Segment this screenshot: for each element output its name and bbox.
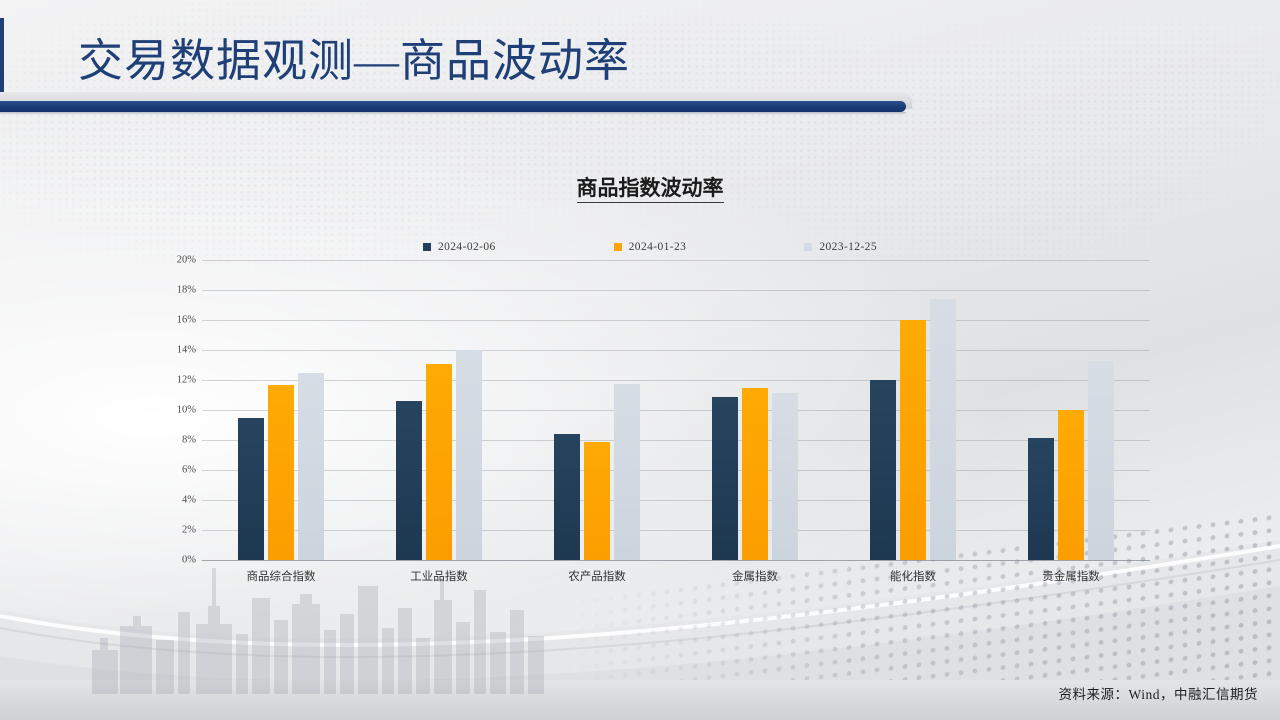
bar[interactable] [870, 380, 896, 560]
chart-title-text: 商品指数波动率 [577, 176, 724, 203]
source-note: 资料来源：Wind，中融汇信期货 [1059, 683, 1258, 703]
bar[interactable] [426, 364, 452, 561]
page-title: 交易数据观测—商品波动率 [78, 34, 630, 88]
legend-swatch-icon [804, 243, 812, 251]
y-axis-tick-label: 14% [150, 345, 196, 356]
x-axis-category-label: 金属指数 [676, 568, 834, 584]
bar[interactable] [614, 384, 640, 560]
y-axis-tick-label: 4% [150, 495, 196, 506]
bar[interactable] [772, 393, 798, 560]
bar[interactable] [1058, 410, 1084, 560]
legend-item[interactable]: 2023-12-25 [804, 241, 877, 253]
header-band-shadow [0, 112, 906, 115]
y-axis-labels: 0%2%4%6%8%10%12%14%16%18%20% [150, 260, 196, 560]
bar-group: 农产品指数 [518, 260, 676, 560]
y-axis-tick-label: 10% [150, 405, 196, 416]
legend-item[interactable]: 2024-01-23 [614, 241, 687, 253]
x-axis-category-label: 农产品指数 [518, 568, 676, 584]
bar[interactable] [1088, 361, 1114, 561]
header-accent-band [0, 92, 960, 118]
chart-bars: 商品综合指数工业品指数农产品指数金属指数能化指数贵金属指数 [202, 260, 1150, 560]
x-axis-category-label: 贵金属指数 [992, 568, 1150, 584]
y-axis-tick-label: 0% [150, 555, 196, 566]
chart-legend: 2024-02-062024-01-232023-12-25 [150, 238, 1150, 256]
bar[interactable] [584, 442, 610, 560]
y-axis-tick-label: 18% [150, 285, 196, 296]
legend-swatch-icon [423, 243, 431, 251]
legend-label: 2024-02-06 [438, 241, 496, 253]
legend-label: 2024-01-23 [629, 241, 687, 253]
x-axis-category-label: 商品综合指数 [202, 568, 360, 584]
bar[interactable] [268, 385, 294, 561]
bar-group: 工业品指数 [360, 260, 518, 560]
bar-group: 能化指数 [834, 260, 992, 560]
bar-group: 商品综合指数 [202, 260, 360, 560]
bar-group: 贵金属指数 [992, 260, 1150, 560]
y-axis-tick-label: 12% [150, 375, 196, 386]
header-band-blue [0, 101, 906, 112]
chart-title: 商品指数波动率 [150, 172, 1150, 202]
x-axis-category-label: 能化指数 [834, 568, 992, 584]
x-axis-category-label: 工业品指数 [360, 568, 518, 584]
bar[interactable] [298, 373, 324, 561]
bar[interactable] [712, 397, 738, 561]
slide-header: 交易数据观测—商品波动率 [0, 0, 1280, 118]
y-axis-tick-label: 2% [150, 525, 196, 536]
y-axis-tick-label: 16% [150, 315, 196, 326]
y-axis-tick-label: 8% [150, 435, 196, 446]
bar[interactable] [1028, 438, 1054, 560]
chart-plot-area: 0%2%4%6%8%10%12%14%16%18%20% 商品综合指数工业品指数… [202, 260, 1150, 560]
bar[interactable] [456, 350, 482, 560]
bar[interactable] [396, 401, 422, 560]
legend-item[interactable]: 2024-02-06 [423, 241, 496, 253]
y-axis-tick-label: 6% [150, 465, 196, 476]
legend-swatch-icon [614, 243, 622, 251]
bar[interactable] [554, 434, 580, 560]
y-axis-tick-label: 20% [150, 255, 196, 266]
legend-label: 2023-12-25 [819, 241, 877, 253]
bar[interactable] [742, 388, 768, 560]
bar-chart: 商品指数波动率 2024-02-062024-01-232023-12-25 0… [150, 160, 1150, 580]
bar[interactable] [930, 299, 956, 560]
bar-group: 金属指数 [676, 260, 834, 560]
gridline [202, 560, 1150, 561]
bar[interactable] [900, 320, 926, 560]
slide-canvas: 交易数据观测—商品波动率 商品指数波动率 2024-02-062024-01-2… [0, 0, 1280, 720]
bar[interactable] [238, 418, 264, 561]
